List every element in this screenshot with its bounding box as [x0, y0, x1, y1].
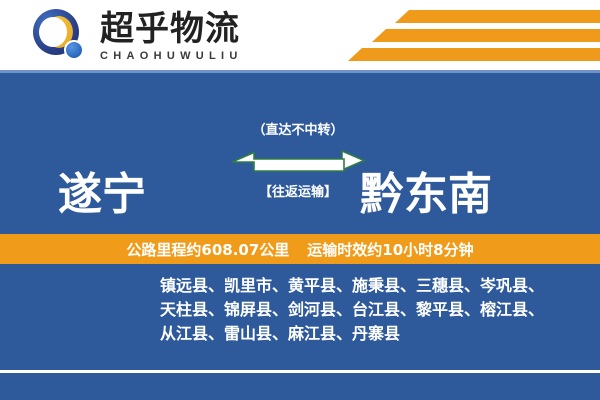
destination-line: 从江县、雷山县、麻江县、丹寨县 [160, 322, 590, 346]
duration-text: 运输时效约10小时8分钟 [307, 239, 473, 260]
distance-text: 公路里程约608.07公里 [126, 239, 289, 260]
logo-crescent-cutout [39, 17, 67, 47]
stripe-1 [395, 10, 600, 23]
arrow-left-shape [232, 153, 344, 172]
route-middle: （直达不中转） 【往返运输】 [228, 119, 368, 200]
brand-block: 超乎物流 CHAOHUWULIU [100, 10, 265, 62]
company-logo-icon [33, 9, 87, 63]
coverage-section: 镇远县、凯里市、黄平县、施秉县、三穗县、岑巩县、 天柱县、锦屏县、剑河县、台江县… [0, 264, 600, 400]
brand-name-en: CHAOHUWULIU [100, 50, 265, 62]
stripe-3 [348, 48, 600, 61]
destination-list: 镇远县、凯里市、黄平县、施秉县、三穗县、岑巩县、 天柱县、锦屏县、剑河县、台江县… [160, 274, 590, 346]
bidirectional-arrow-icon [230, 143, 366, 177]
arrow-svg [230, 143, 366, 177]
direct-note: （直达不中转） [228, 119, 368, 138]
destination-city: 黔东南 [360, 173, 492, 217]
logo-accent-dot [64, 40, 84, 60]
banner-header: 超乎物流 CHAOHUWULIU [0, 0, 600, 70]
origin-city: 遂宁 [58, 173, 146, 217]
route-section: 遂宁 （直达不中转） 【往返运输】 黔东南 [0, 73, 600, 232]
stripe-2 [372, 29, 600, 42]
logistics-route-banner: 超乎物流 CHAOHUWULIU 遂宁 （直达不中转） 【往返运输】 [0, 0, 600, 400]
route-info-bar: 公路里程约608.07公里 运输时效约10小时8分钟 [0, 232, 600, 264]
destination-line: 天柱县、锦屏县、剑河县、台江县、黎平县、榕江县、 [160, 298, 590, 322]
roundtrip-note: 【往返运输】 [228, 181, 368, 200]
destination-line: 镇远县、凯里市、黄平县、施秉县、三穗县、岑巩县、 [160, 274, 590, 298]
speed-stripes-icon [320, 8, 600, 66]
road-line [0, 370, 600, 373]
brand-name-cn: 超乎物流 [100, 10, 265, 48]
